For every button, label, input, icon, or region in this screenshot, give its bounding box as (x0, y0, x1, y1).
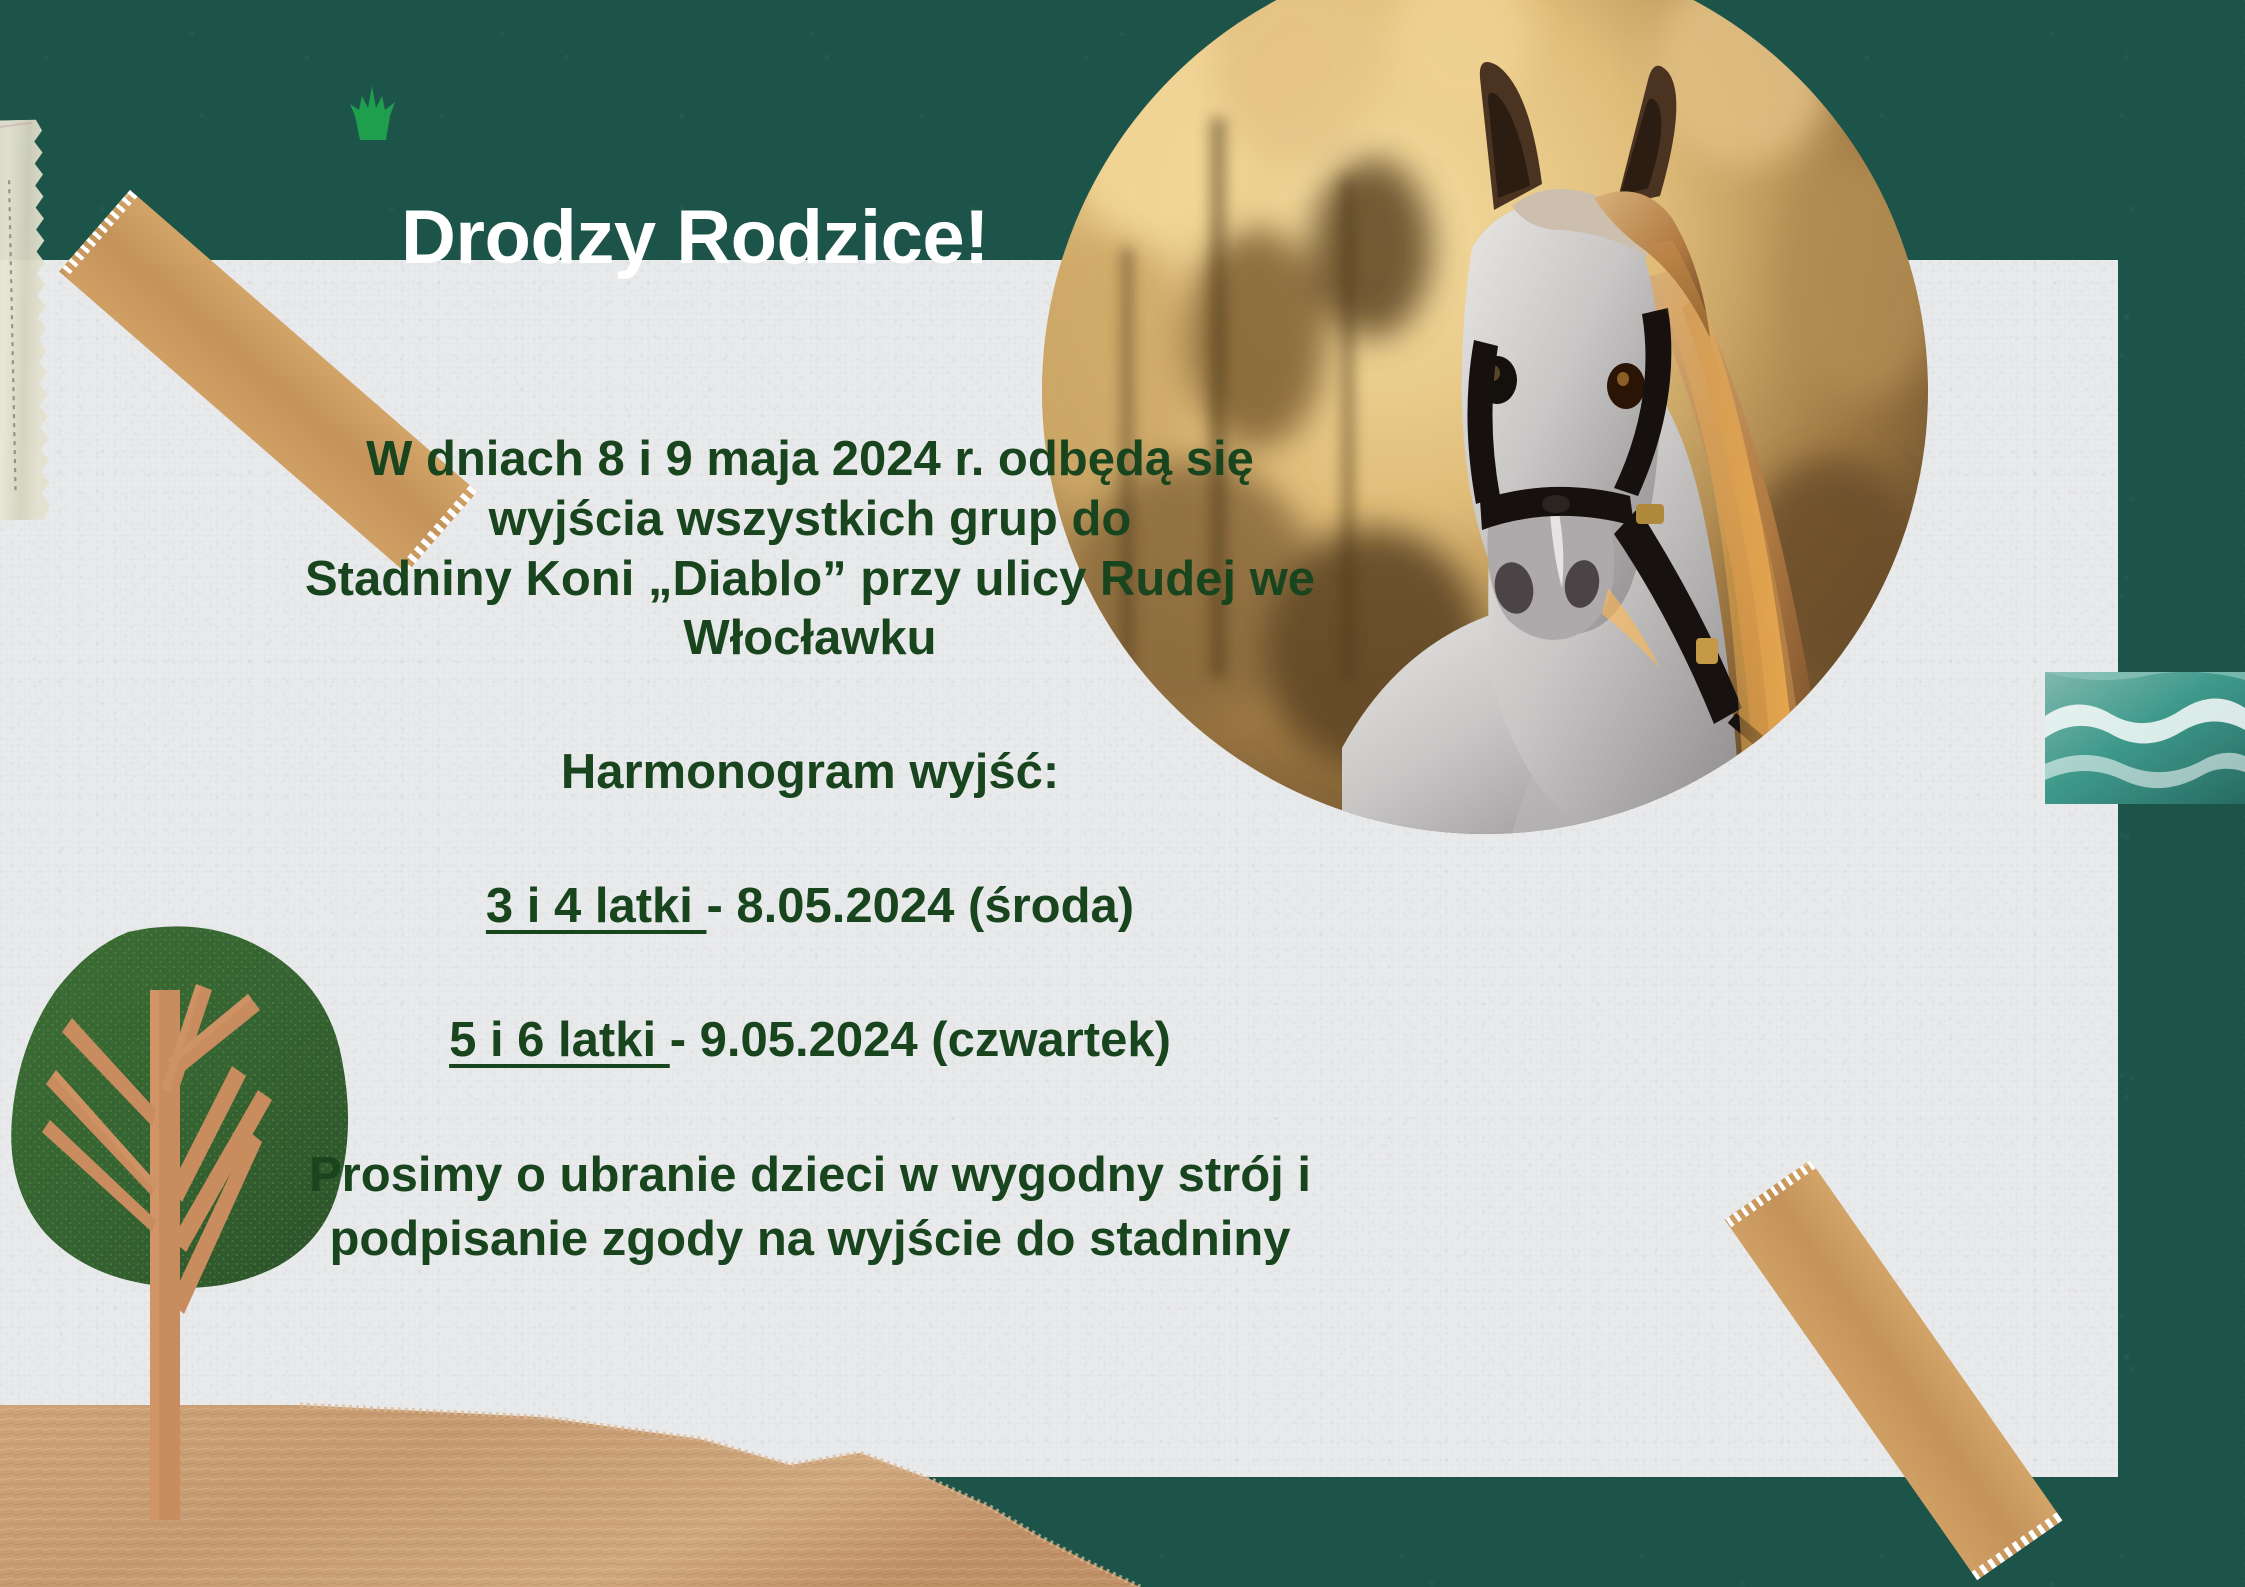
ocean-wave-swatch (2045, 672, 2245, 804)
closing-line-2: podpisanie zgody na wyjście do stadniny (120, 1208, 1500, 1272)
closing-line-1: Prosimy o ubranie dzieci w wygodny strój… (120, 1144, 1500, 1208)
spacer-3 (120, 937, 1500, 1011)
schedule-row-1: 3 i 4 latki - 8.05.2024 (środa) (120, 877, 1500, 937)
poster-canvas: Drodzy Rodzice! W dniach 8 i 9 maja 2024… (0, 0, 2245, 1587)
intro-line-2: wyjścia wszystkich grup do (120, 490, 1500, 550)
intro-line-1: W dniach 8 i 9 maja 2024 r. odbędą się (120, 430, 1500, 490)
spacer-1 (120, 669, 1500, 743)
intro-line-3: Stadniny Koni „Diablo” przy ulicy Rudej … (120, 550, 1500, 610)
body-copy: W dniach 8 i 9 maja 2024 r. odbędą się w… (120, 430, 1500, 1272)
schedule-row-2-detail: - 9.05.2024 (czwartek) (670, 1013, 1171, 1067)
washi-tape-light (0, 119, 58, 520)
schedule-row-1-detail: - 8.05.2024 (środa) (707, 879, 1135, 933)
intro-line-4: Włocławku (120, 609, 1500, 669)
schedule-row-2-group: 5 i 6 latki (449, 1013, 670, 1067)
schedule-row-2: 5 i 6 latki - 9.05.2024 (czwartek) (120, 1011, 1500, 1071)
page-title: Drodzy Rodzice! (0, 200, 1390, 276)
spacer-2 (120, 803, 1500, 877)
schedule-heading: Harmonogram wyjść: (120, 743, 1500, 803)
schedule-row-1-group: 3 i 4 latki (486, 879, 707, 933)
grass-sprig-icon (342, 84, 404, 140)
spacer-4 (120, 1070, 1500, 1144)
